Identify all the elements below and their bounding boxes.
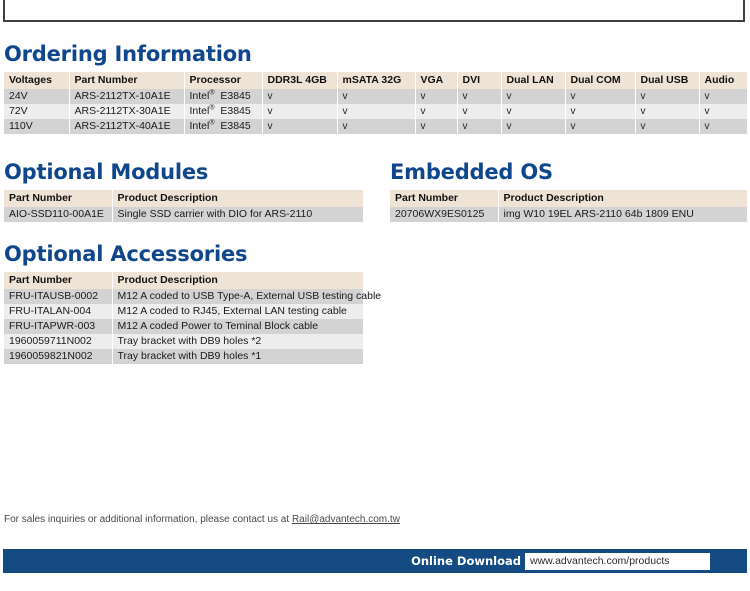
heading-ordering-information: Ordering Information — [4, 42, 252, 66]
cell-msata-32g: v — [337, 104, 415, 119]
cell-vga: v — [415, 89, 457, 104]
processor-brand: Intel — [190, 105, 210, 117]
processor-model: E3845 — [220, 90, 250, 102]
cell-dual-lan: v — [501, 119, 565, 134]
optional-accessories-table: Part Number Product Description FRU-ITAU… — [4, 272, 363, 364]
table-row: 20706WX9ES0125 img W10 19EL ARS-2110 64b… — [390, 207, 747, 222]
table-row: 72V ARS-2112TX-30A1E Intel® E3845 v v v … — [4, 104, 747, 119]
table-row: 110V ARS-2112TX-40A1E Intel® E3845 v v v… — [4, 119, 747, 134]
col-dual-com: Dual COM — [565, 72, 635, 89]
cell-audio: v — [699, 119, 747, 134]
table-header-row: Voltages Part Number Processor DDR3L 4GB… — [4, 72, 747, 89]
cell-dual-com: v — [565, 104, 635, 119]
col-product-description: Product Description — [498, 190, 747, 207]
cell-dual-usb: v — [635, 119, 699, 134]
cell-product-description: Tray bracket with DB9 holes *1 — [112, 349, 363, 364]
processor-brand: Intel — [190, 90, 210, 102]
cell-part-number: FRU-ITAUSB-0002 — [4, 289, 112, 304]
table-row: FRU-ITALAN-004 M12 A coded to RJ45, Exte… — [4, 304, 363, 319]
heading-optional-modules: Optional Modules — [4, 160, 208, 184]
cell-vga: v — [415, 119, 457, 134]
table-row: FRU-ITAPWR-003 M12 A coded Power to Temi… — [4, 319, 363, 334]
online-download-label: Online Download — [411, 554, 521, 568]
processor-model: E3845 — [220, 105, 250, 117]
sales-contact-line: For sales inquiries or additional inform… — [4, 514, 400, 525]
cell-audio: v — [699, 89, 747, 104]
cell-dual-usb: v — [635, 104, 699, 119]
cell-ddr3l-4gb: v — [262, 104, 337, 119]
contact-text: For sales inquiries or additional inform… — [4, 514, 292, 525]
ordering-information-table: Voltages Part Number Processor DDR3L 4GB… — [4, 72, 747, 134]
cell-part-number: FRU-ITALAN-004 — [4, 304, 112, 319]
table-row: 1960059821N002 Tray bracket with DB9 hol… — [4, 349, 363, 364]
heading-embedded-os: Embedded OS — [390, 160, 553, 184]
top-clipped-box — [3, 0, 745, 22]
processor-model: E3845 — [220, 120, 250, 132]
table-row: 24V ARS-2112TX-10A1E Intel® E3845 v v v … — [4, 89, 747, 104]
cell-part-number: 1960059711N002 — [4, 334, 112, 349]
contact-email-link[interactable]: Rail@advantech.com.tw — [292, 514, 400, 525]
cell-part-number: 20706WX9ES0125 — [390, 207, 498, 222]
cell-part-number: ARS-2112TX-40A1E — [69, 119, 184, 134]
cell-product-description: M12 A coded Power to Teminal Block cable — [112, 319, 363, 334]
cell-dual-com: v — [565, 119, 635, 134]
cell-dvi: v — [457, 104, 501, 119]
cell-product-description: Tray bracket with DB9 holes *2 — [112, 334, 363, 349]
cell-ddr3l-4gb: v — [262, 89, 337, 104]
col-product-description: Product Description — [112, 272, 363, 289]
cell-product-description: Single SSD carrier with DIO for ARS-2110 — [112, 207, 363, 222]
col-msata-32g: mSATA 32G — [337, 72, 415, 89]
cell-vga: v — [415, 104, 457, 119]
optional-modules-table: Part Number Product Description AIO-SSD1… — [4, 190, 363, 222]
table-row: 1960059711N002 Tray bracket with DB9 hol… — [4, 334, 363, 349]
col-ddr3l-4gb: DDR3L 4GB — [262, 72, 337, 89]
heading-optional-accessories: Optional Accessories — [4, 242, 247, 266]
col-dual-lan: Dual LAN — [501, 72, 565, 89]
registered-mark: ® — [209, 120, 214, 127]
cell-dvi: v — [457, 119, 501, 134]
cell-product-description: M12 A coded to USB Type-A, External USB … — [112, 289, 363, 304]
col-dual-usb: Dual USB — [635, 72, 699, 89]
cell-part-number: FRU-ITAPWR-003 — [4, 319, 112, 334]
cell-dual-lan: v — [501, 104, 565, 119]
cell-processor: Intel® E3845 — [184, 104, 262, 119]
cell-part-number: 1960059821N002 — [4, 349, 112, 364]
col-dvi: DVI — [457, 72, 501, 89]
table-header-row: Part Number Product Description — [4, 190, 363, 207]
cell-voltages: 110V — [4, 119, 69, 134]
cell-dvi: v — [457, 89, 501, 104]
cell-processor: Intel® E3845 — [184, 89, 262, 104]
cell-part-number: AIO-SSD110-00A1E — [4, 207, 112, 222]
table-row: FRU-ITAUSB-0002 M12 A coded to USB Type-… — [4, 289, 363, 304]
table-header-row: Part Number Product Description — [4, 272, 363, 289]
cell-voltages: 72V — [4, 104, 69, 119]
cell-part-number: ARS-2112TX-10A1E — [69, 89, 184, 104]
col-voltages: Voltages — [4, 72, 69, 89]
datasheet-page: Ordering Information Voltages Part Numbe… — [0, 0, 750, 591]
col-vga: VGA — [415, 72, 457, 89]
footer-bar: Online Download www.advantech.com/produc… — [3, 549, 747, 573]
col-part-number: Part Number — [4, 190, 112, 207]
cell-dual-com: v — [565, 89, 635, 104]
cell-product-description: M12 A coded to RJ45, External LAN testin… — [112, 304, 363, 319]
table-row: AIO-SSD110-00A1E Single SSD carrier with… — [4, 207, 363, 222]
cell-dual-lan: v — [501, 89, 565, 104]
cell-msata-32g: v — [337, 119, 415, 134]
cell-audio: v — [699, 104, 747, 119]
online-download-url[interactable]: www.advantech.com/products — [525, 553, 710, 570]
table-header-row: Part Number Product Description — [390, 190, 747, 207]
cell-ddr3l-4gb: v — [262, 119, 337, 134]
processor-brand: Intel — [190, 120, 210, 132]
col-part-number: Part Number — [69, 72, 184, 89]
cell-msata-32g: v — [337, 89, 415, 104]
registered-mark: ® — [209, 105, 214, 112]
col-processor: Processor — [184, 72, 262, 89]
cell-product-description: img W10 19EL ARS-2110 64b 1809 ENU — [498, 207, 747, 222]
cell-processor: Intel® E3845 — [184, 119, 262, 134]
col-part-number: Part Number — [4, 272, 112, 289]
embedded-os-table: Part Number Product Description 20706WX9… — [390, 190, 747, 222]
cell-voltages: 24V — [4, 89, 69, 104]
col-audio: Audio — [699, 72, 747, 89]
cell-part-number: ARS-2112TX-30A1E — [69, 104, 184, 119]
col-product-description: Product Description — [112, 190, 363, 207]
col-part-number: Part Number — [390, 190, 498, 207]
registered-mark: ® — [209, 90, 214, 97]
cell-dual-usb: v — [635, 89, 699, 104]
